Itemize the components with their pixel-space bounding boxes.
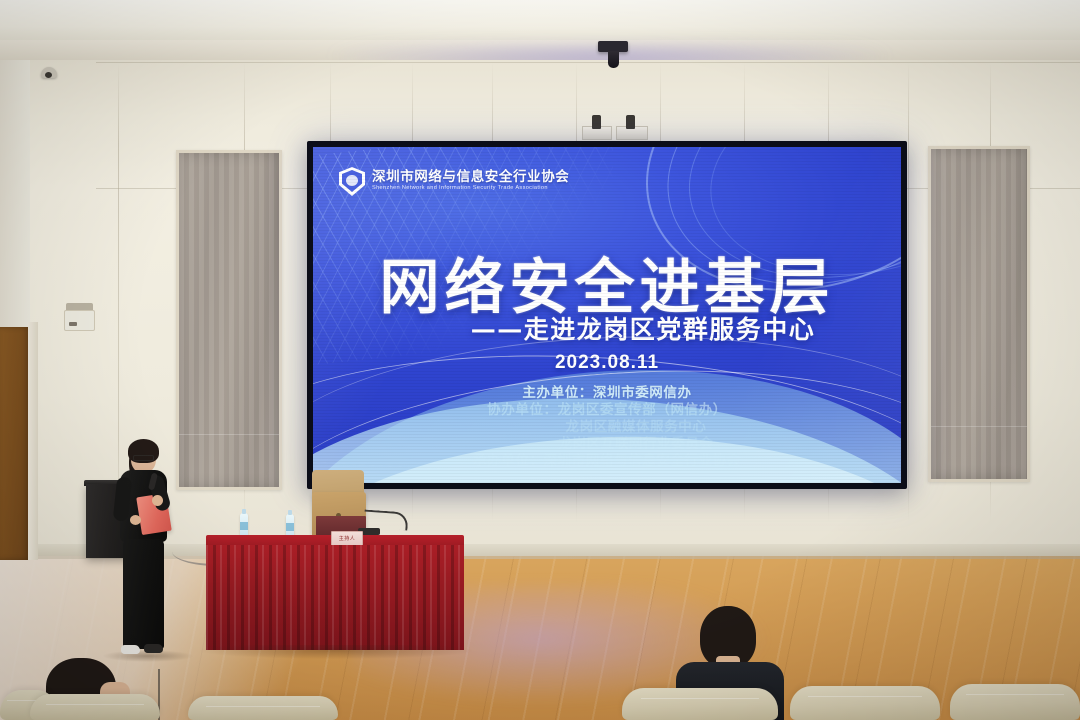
- speaker-driver-icon: [626, 115, 635, 129]
- glasses-icon: [133, 455, 154, 461]
- audience-seat[interactable]: [790, 686, 940, 720]
- table-skirt-pleats: [206, 545, 464, 650]
- projector-lens-icon: [608, 51, 619, 68]
- ceiling: [0, 0, 1080, 44]
- wall-seam: [908, 62, 909, 522]
- presenter-shoe-left: [121, 645, 140, 654]
- room-door[interactable]: [0, 327, 30, 560]
- logo-org-name-cn: 深圳市网络与信息安全行业协会: [372, 170, 569, 184]
- led-screen-frame: 深圳市网络与信息安全行业协会 Shenzhen Network and Info…: [307, 141, 907, 489]
- door-jamb: [28, 322, 38, 560]
- presenter-legs: [123, 539, 164, 649]
- audience-seat[interactable]: [30, 694, 160, 720]
- panel-texture: [179, 153, 279, 487]
- seat-seam: [46, 704, 145, 705]
- power-outlet-icon[interactable]: [64, 310, 95, 331]
- name-card: 主持人: [331, 531, 363, 546]
- presenter-shoe-right: [144, 644, 163, 653]
- seat-seam: [206, 706, 320, 707]
- logo-org-name-en: Shenzhen Network and Information Securit…: [372, 185, 569, 193]
- head-table-shadow: [200, 645, 472, 659]
- shield-core-icon: [346, 175, 358, 186]
- panel-texture: [931, 149, 1027, 479]
- bottle-label: [240, 522, 248, 530]
- conference-room-photo: 深圳市网络与信息安全行业协会 Shenzhen Network and Info…: [0, 0, 1080, 720]
- security-camera-icon: [41, 67, 57, 78]
- presentation-slide[interactable]: 深圳市网络与信息安全行业协会 Shenzhen Network and Info…: [313, 147, 901, 483]
- audience-seat[interactable]: [622, 688, 778, 720]
- acoustic-panel-right: [928, 146, 1030, 482]
- speaker-driver-icon: [592, 115, 601, 129]
- audience-seat[interactable]: [188, 696, 338, 720]
- shield-logo-icon: [339, 167, 365, 196]
- acoustic-panel-left: [176, 150, 282, 490]
- presenter-hand-left: [130, 515, 141, 525]
- association-logo: 深圳市网络与信息安全行业协会 Shenzhen Network and Info…: [339, 167, 569, 196]
- seat-seam: [966, 694, 1065, 695]
- presenter: [108, 443, 178, 658]
- seat-seam: [808, 696, 922, 697]
- wall-seam-horizontal: [96, 62, 1080, 63]
- head-table-skirt: [206, 545, 464, 650]
- name-card-text: 主持人: [332, 532, 362, 545]
- presenter-hand-right: [152, 495, 163, 506]
- bottle-label: [286, 523, 294, 531]
- water-bottle-icon[interactable]: [240, 513, 248, 537]
- seat-seam: [641, 698, 760, 699]
- audience-seat[interactable]: [950, 684, 1080, 720]
